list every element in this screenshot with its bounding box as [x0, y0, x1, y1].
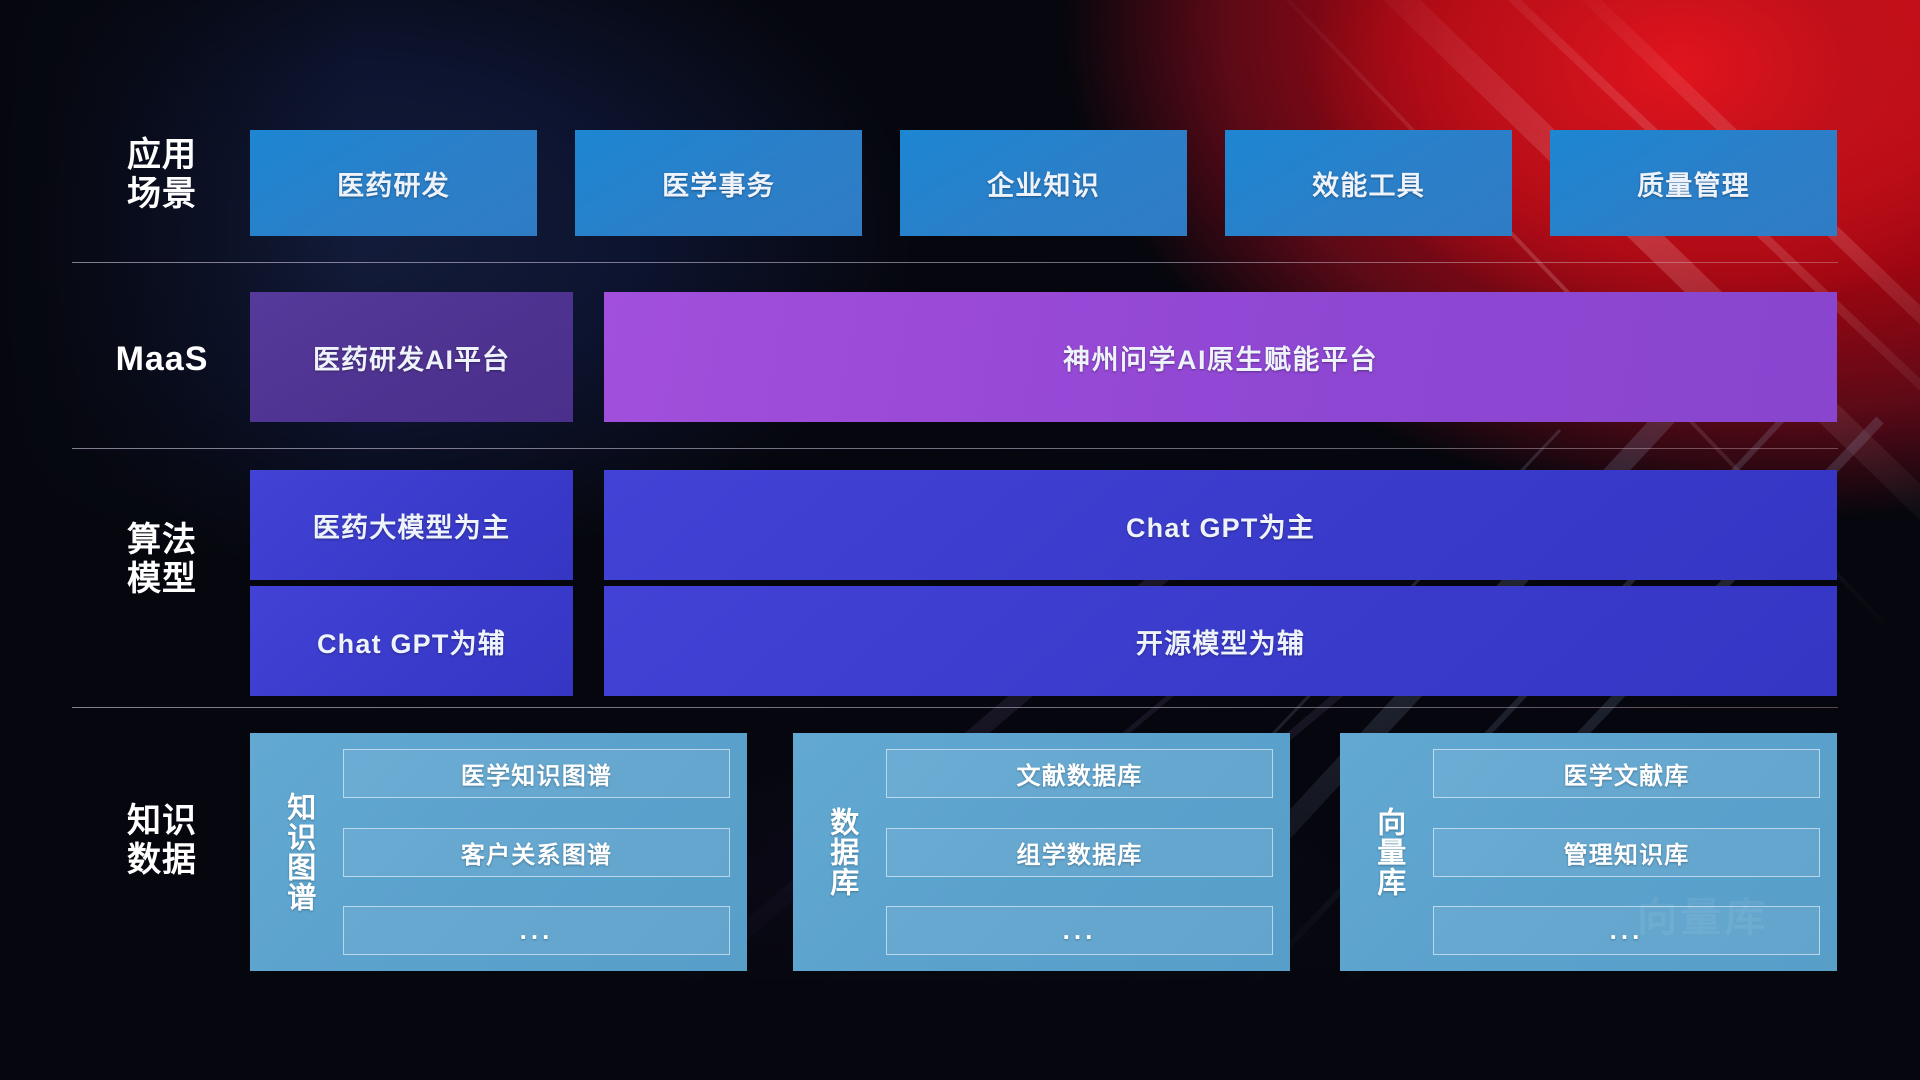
knowledge-item-database-more[interactable]: ...: [886, 906, 1273, 955]
divider-application-maas: [72, 262, 1838, 263]
knowledge-panel-database-title: 数据库: [810, 749, 872, 955]
knowledge-panel-database-items: 文献数据库 组学数据库 ...: [886, 749, 1273, 955]
knowledge-panel-graph[interactable]: 知识图谱 医学知识图谱 客户关系图谱 ...: [250, 733, 747, 971]
knowledge-item-medical-graph[interactable]: 医学知识图谱: [343, 749, 730, 798]
row-label-algorithm-line2: 模型: [82, 560, 242, 599]
knowledge-panel-vector[interactable]: 向量库 医学文献库 管理知识库 ...: [1340, 733, 1837, 971]
model-box-opensource-secondary[interactable]: 开源模型为辅: [604, 586, 1837, 696]
maas-box-shenzhou-wenxue-platform[interactable]: 神州问学AI原生赋能平台: [604, 292, 1837, 422]
knowledge-item-management-knowledge[interactable]: 管理知识库: [1433, 828, 1820, 877]
divider-algorithm-knowledge: [72, 707, 1838, 708]
knowledge-item-medical-literature[interactable]: 医学文献库: [1433, 749, 1820, 798]
model-box-chatgpt-secondary[interactable]: Chat GPT为辅: [250, 586, 573, 696]
knowledge-panel-database[interactable]: 数据库 文献数据库 组学数据库 ...: [793, 733, 1290, 971]
row-label-application-line2: 场景: [82, 175, 242, 214]
row-label-knowledge-line2: 数据: [82, 841, 242, 880]
app-box-medical-affairs[interactable]: 医学事务: [575, 130, 862, 236]
row-label-algorithm-line1: 算法: [82, 521, 242, 560]
knowledge-panel-vector-items: 医学文献库 管理知识库 ...: [1433, 749, 1820, 955]
knowledge-panel-graph-items: 医学知识图谱 客户关系图谱 ...: [343, 749, 730, 955]
app-box-efficiency-tools[interactable]: 效能工具: [1225, 130, 1512, 236]
model-box-pharma-llm-primary[interactable]: 医药大模型为主: [250, 470, 573, 580]
knowledge-item-customer-graph[interactable]: 客户关系图谱: [343, 828, 730, 877]
maas-box-pharma-ai-platform[interactable]: 医药研发AI平台: [250, 292, 573, 422]
model-box-chatgpt-primary[interactable]: Chat GPT为主: [604, 470, 1837, 580]
row-label-knowledge-line1: 知识: [82, 802, 242, 841]
app-box-enterprise-knowledge[interactable]: 企业知识: [900, 130, 1187, 236]
row-label-application: 应用 场景: [82, 136, 242, 215]
row-label-maas-text: MaaS: [116, 340, 209, 378]
divider-maas-algorithm: [72, 448, 1838, 449]
row-label-algorithm: 算法 模型: [82, 521, 242, 600]
knowledge-item-omics-db[interactable]: 组学数据库: [886, 828, 1273, 877]
knowledge-item-vector-more[interactable]: ...: [1433, 906, 1820, 955]
app-box-pharma-rnd[interactable]: 医药研发: [250, 130, 537, 236]
app-box-quality-management[interactable]: 质量管理: [1550, 130, 1837, 236]
knowledge-item-graph-more[interactable]: ...: [343, 906, 730, 955]
row-label-maas: MaaS: [82, 340, 242, 379]
knowledge-panel-vector-title: 向量库: [1357, 749, 1419, 955]
knowledge-panel-graph-title: 知识图谱: [267, 749, 329, 955]
architecture-diagram: 应用 场景 医药研发 医学事务 企业知识 效能工具 质量管理 MaaS 医药研发…: [0, 0, 1920, 1080]
row-label-knowledge: 知识 数据: [82, 802, 242, 881]
row-label-application-line1: 应用: [82, 136, 242, 175]
knowledge-item-literature-db[interactable]: 文献数据库: [886, 749, 1273, 798]
